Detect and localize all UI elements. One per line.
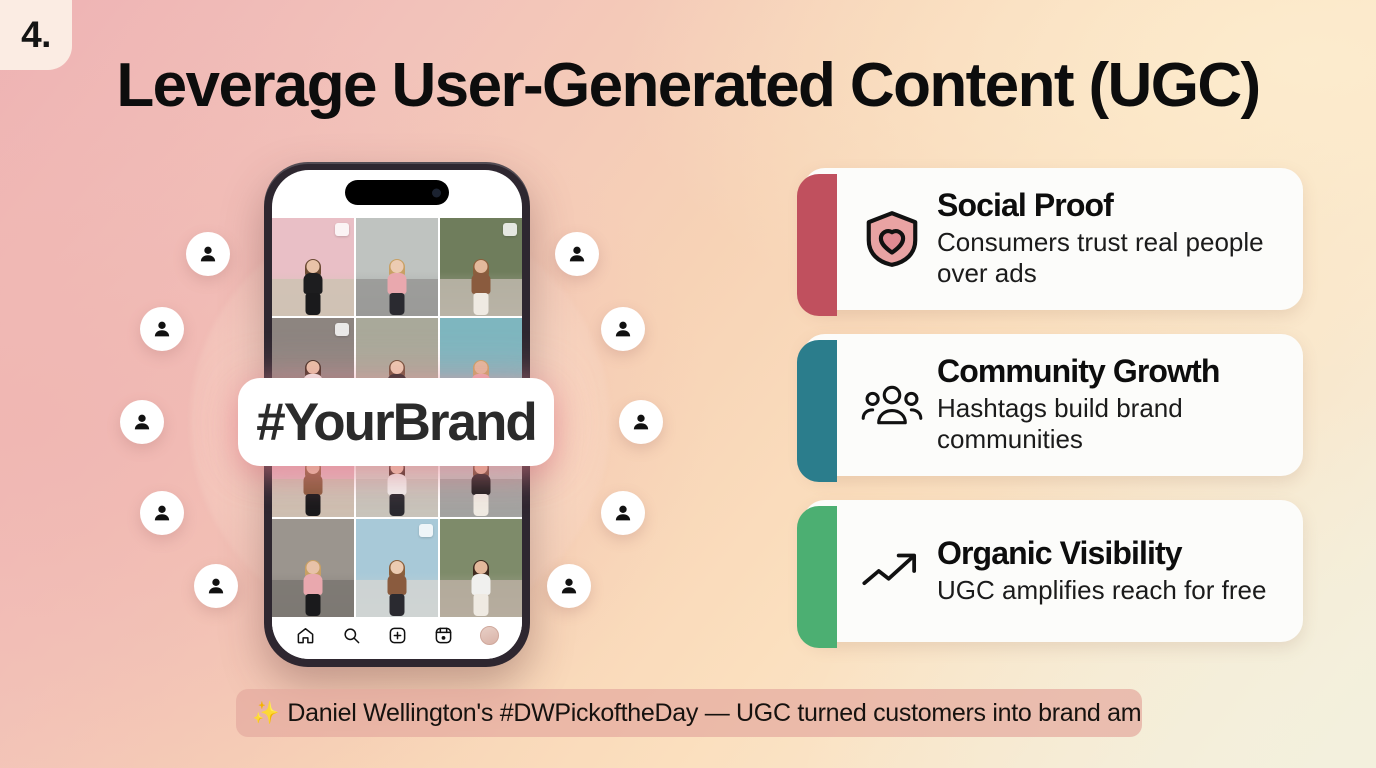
grid-photo[interactable] bbox=[272, 519, 354, 617]
photo-tag-badge bbox=[335, 323, 349, 336]
photo-tag-badge bbox=[335, 223, 349, 236]
card-title: Community Growth bbox=[937, 354, 1281, 390]
person-icon bbox=[131, 411, 153, 433]
sparkle-icon: ✨ bbox=[252, 700, 279, 726]
user-avatar-bubble bbox=[619, 400, 663, 444]
photo-subject bbox=[468, 461, 494, 515]
grid-photo[interactable] bbox=[356, 218, 438, 316]
person-icon bbox=[151, 502, 173, 524]
search-icon[interactable] bbox=[342, 626, 361, 645]
caption-text: Daniel Wellington's #DWPickoftheDay — UG… bbox=[287, 699, 1142, 728]
card-accent-bar bbox=[797, 174, 837, 316]
photo-subject bbox=[384, 461, 410, 515]
user-avatar-bubble bbox=[140, 307, 184, 351]
feature-card[interactable]: Community GrowthHashtags build brand com… bbox=[803, 334, 1303, 476]
person-icon bbox=[558, 575, 580, 597]
grid-photo[interactable] bbox=[272, 218, 354, 316]
photo-subject bbox=[468, 561, 494, 615]
profile-avatar[interactable] bbox=[480, 626, 499, 645]
feature-card[interactable]: Social ProofConsumers trust real people … bbox=[803, 168, 1303, 310]
card-title: Social Proof bbox=[937, 188, 1281, 224]
card-description: UGC amplifies reach for free bbox=[937, 575, 1266, 606]
create-icon[interactable] bbox=[388, 626, 407, 645]
page-title: Leverage User-Generated Content (UGC) bbox=[0, 50, 1376, 121]
caption-banner: ✨ Daniel Wellington's #DWPickoftheDay — … bbox=[236, 689, 1142, 737]
card-text-block: Organic VisibilityUGC amplifies reach fo… bbox=[937, 536, 1266, 606]
people-group-icon bbox=[861, 380, 923, 430]
phone-illustration: #YourBrand bbox=[120, 150, 680, 680]
photo-subject bbox=[300, 561, 326, 615]
user-avatar-bubble bbox=[194, 564, 238, 608]
photo-subject bbox=[468, 260, 494, 314]
person-icon bbox=[630, 411, 652, 433]
user-avatar-bubble bbox=[140, 491, 184, 535]
photo-subject bbox=[300, 461, 326, 515]
hashtag-label: #YourBrand bbox=[256, 392, 535, 453]
trending-up-icon bbox=[861, 546, 923, 596]
person-icon bbox=[197, 243, 219, 265]
slide-root: 4. Leverage User-Generated Content (UGC) bbox=[0, 0, 1376, 768]
user-avatar-bubble bbox=[186, 232, 230, 276]
phone-bottom-nav bbox=[272, 617, 522, 659]
card-title: Organic Visibility bbox=[937, 536, 1266, 572]
photo-tag-badge bbox=[503, 223, 517, 236]
person-icon bbox=[205, 575, 227, 597]
card-description: Hashtags build brand communities bbox=[937, 393, 1281, 455]
person-icon bbox=[612, 502, 634, 524]
grid-photo[interactable] bbox=[440, 218, 522, 316]
card-text-block: Community GrowthHashtags build brand com… bbox=[937, 354, 1281, 455]
hashtag-pill: #YourBrand bbox=[238, 378, 554, 466]
feature-card[interactable]: Organic VisibilityUGC amplifies reach fo… bbox=[803, 500, 1303, 642]
home-icon[interactable] bbox=[296, 626, 315, 645]
person-icon bbox=[566, 243, 588, 265]
shield-heart-icon bbox=[861, 208, 923, 270]
user-avatar-bubble bbox=[601, 307, 645, 351]
grid-photo[interactable] bbox=[356, 519, 438, 617]
person-icon bbox=[151, 318, 173, 340]
front-camera-icon bbox=[432, 188, 441, 197]
card-accent-bar bbox=[797, 340, 837, 482]
photo-subject bbox=[384, 561, 410, 615]
user-avatar-bubble bbox=[601, 491, 645, 535]
grid-photo[interactable] bbox=[440, 519, 522, 617]
card-text-block: Social ProofConsumers trust real people … bbox=[937, 188, 1281, 289]
photo-subject bbox=[300, 260, 326, 314]
photo-tag-badge bbox=[419, 524, 433, 537]
dynamic-island bbox=[345, 180, 449, 205]
user-avatar-bubble bbox=[555, 232, 599, 276]
user-avatar-bubble bbox=[120, 400, 164, 444]
user-avatar-bubble bbox=[547, 564, 591, 608]
reels-icon[interactable] bbox=[434, 626, 453, 645]
photo-subject bbox=[384, 260, 410, 314]
card-description: Consumers trust real people over ads bbox=[937, 227, 1281, 289]
person-icon bbox=[612, 318, 634, 340]
card-accent-bar bbox=[797, 506, 837, 648]
feature-card-list: Social ProofConsumers trust real people … bbox=[803, 168, 1303, 666]
